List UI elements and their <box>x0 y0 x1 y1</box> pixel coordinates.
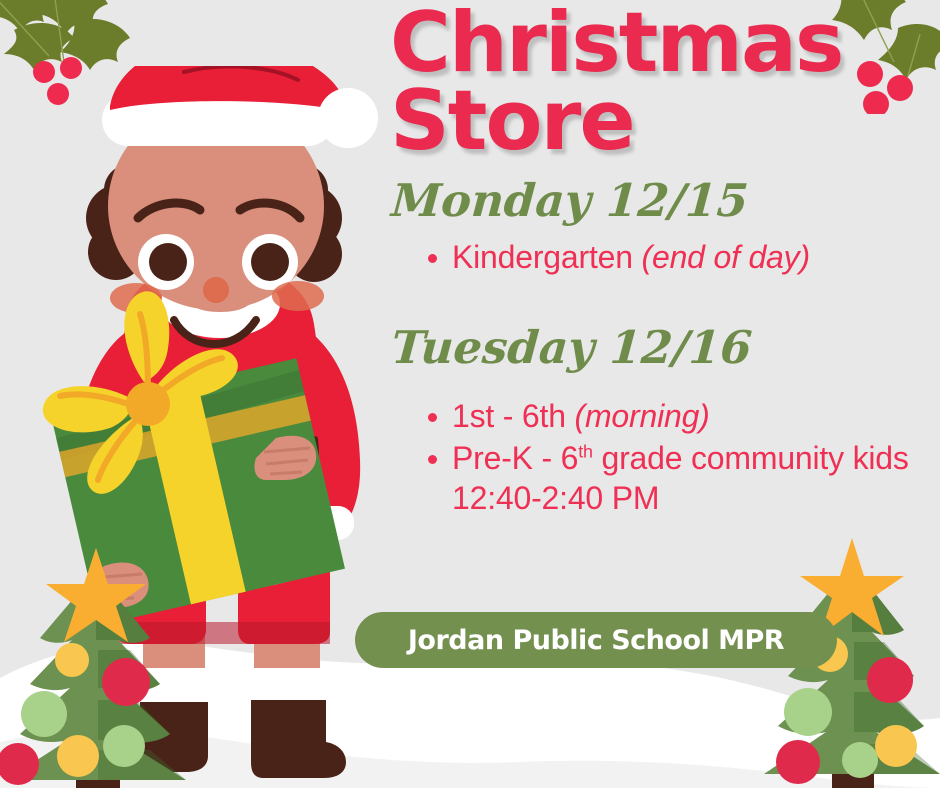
schedule-group-tuesday: Tuesday 12/16 1st - 6th (morning) Pre-K … <box>390 325 935 518</box>
list-item-note: (morning) <box>575 398 710 434</box>
list-item-text: Kindergarten <box>452 239 642 275</box>
venue-label: Jordan Public School MPR <box>408 625 784 656</box>
flyer-text-column: Christmas Store Monday 12/15 Kindergarte… <box>390 0 935 788</box>
title-line-1: Christmas <box>390 4 935 82</box>
schedule-item-list: 1st - 6th (morning) Pre-K - 6th grade co… <box>390 396 935 518</box>
christmas-tree-icon <box>0 544 200 788</box>
list-item-superscript: th <box>578 441 593 461</box>
christmas-store-flyer: Christmas Store Monday 12/15 Kindergarte… <box>0 0 940 788</box>
schedule-group-monday: Monday 12/15 Kindergarten (end of day) <box>390 178 935 277</box>
title-line-2: Store <box>390 82 935 160</box>
list-item-text-pre: Pre-K - 6 <box>452 440 578 476</box>
schedule-day-heading: Monday 12/15 <box>390 178 938 223</box>
venue-badge: Jordan Public School MPR <box>355 612 837 668</box>
list-item: 1st - 6th (morning) <box>452 396 935 436</box>
list-item-text: 1st - 6th <box>452 398 575 434</box>
hat-pompom <box>318 88 378 148</box>
schedule-item-list: Kindergarten (end of day) <box>390 237 935 277</box>
list-item: Pre-K - 6th grade community kids 12:40-2… <box>452 438 935 518</box>
schedule-day-heading: Tuesday 12/16 <box>390 325 938 370</box>
list-item-note: (end of day) <box>642 239 810 275</box>
list-item: Kindergarten (end of day) <box>452 237 935 277</box>
page-title: Christmas Store <box>390 0 935 160</box>
